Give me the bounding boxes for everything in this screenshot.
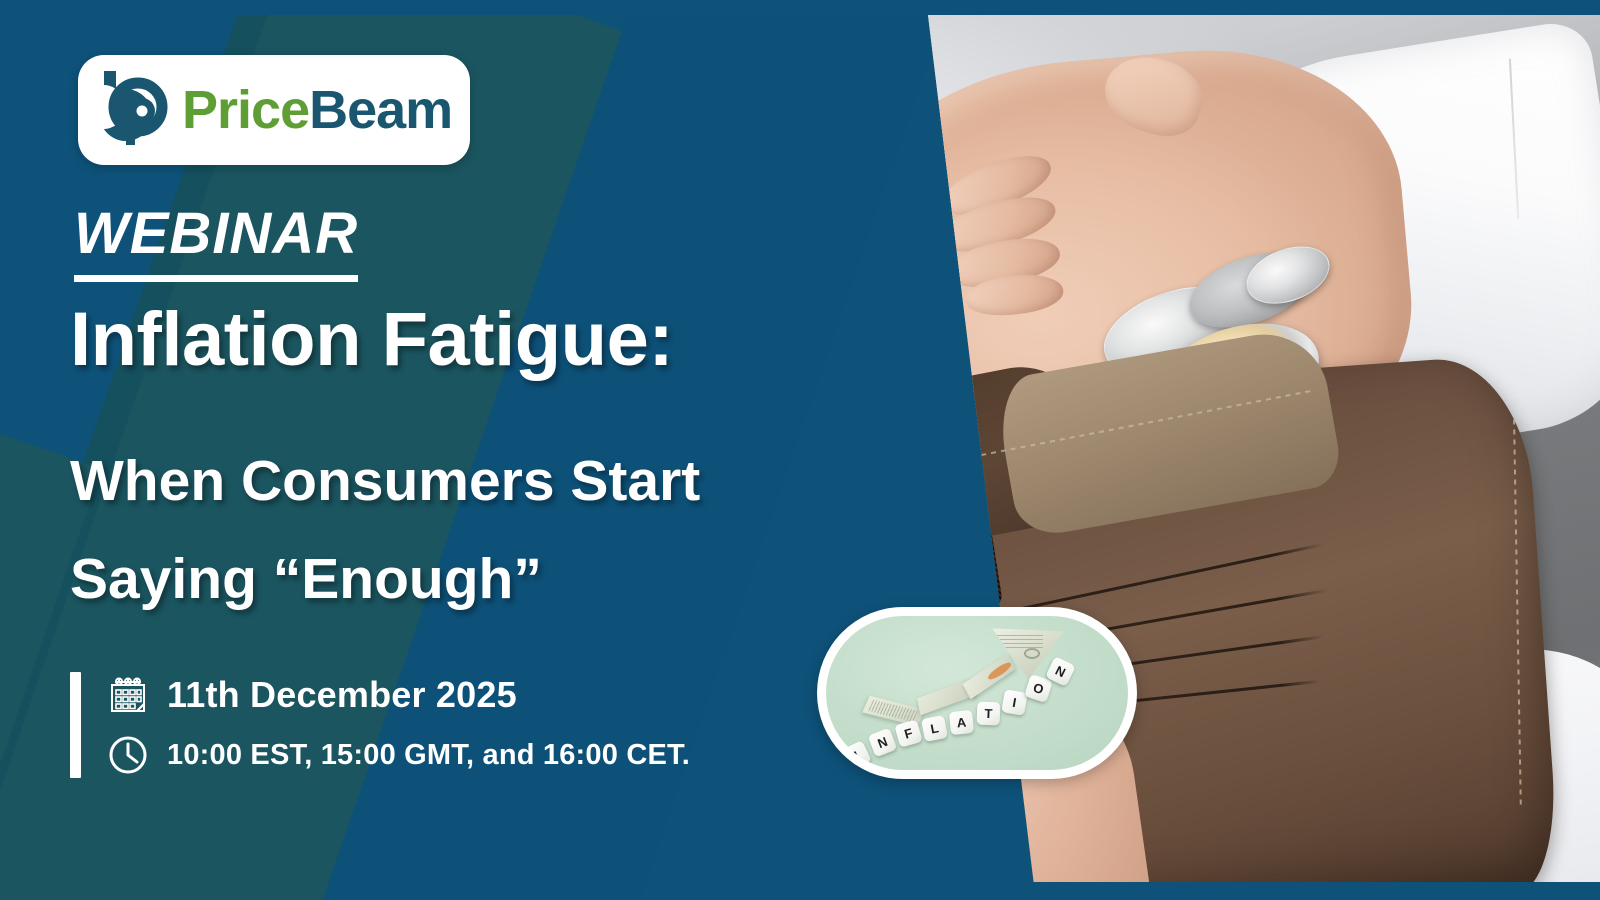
wallet-stitching [1513, 419, 1522, 806]
pricebeam-b-p-monogram-icon [98, 67, 174, 154]
bottom-blue-strip [700, 882, 1600, 900]
sleeve-seam [1509, 58, 1519, 217]
banknote-seal [1024, 648, 1041, 659]
event-details-rows: 11th December 2025 10:00 EST, 15:00 GMT,… [105, 672, 690, 778]
letter-tile: I [1001, 689, 1028, 716]
event-date-row: 11th December 2025 [105, 672, 690, 718]
inflation-inset-photo: I N F L A T I O N [817, 607, 1137, 779]
page-title: Inflation Fatigue: [70, 302, 673, 378]
page-subtitle-line-1: When Consumers Start [70, 432, 700, 530]
top-blue-strip [0, 0, 1600, 15]
event-time-row: 10:00 EST, 15:00 GMT, and 16:00 CET. [105, 732, 690, 778]
thumb [1096, 46, 1211, 145]
letter-tile: T [977, 702, 1001, 726]
event-details: 11th December 2025 10:00 EST, 15:00 GMT,… [70, 672, 690, 778]
event-date: 11th December 2025 [167, 674, 517, 716]
letter-tile: L [921, 715, 948, 742]
brand-logo[interactable]: PriceBeam [78, 55, 470, 165]
accent-bar [70, 672, 81, 778]
calendar-icon [105, 672, 151, 718]
clock-icon [105, 732, 151, 778]
banknote-detail [997, 635, 1044, 648]
inflation-inset-image: I N F L A T I O N [826, 616, 1128, 770]
page-subtitle: When Consumers Start Saying “Enough” [70, 432, 700, 628]
webinar-promo-banner: I N F L A T I O N [0, 0, 1600, 900]
letter-tile: A [949, 710, 974, 735]
brand-wordmark-price: Price [182, 80, 309, 140]
brand-wordmark: PriceBeam [182, 83, 452, 137]
letter-tile: N [868, 728, 898, 758]
eyebrow-label: WEBINAR [74, 200, 358, 282]
event-time: 10:00 EST, 15:00 GMT, and 16:00 CET. [167, 739, 690, 772]
brand-wordmark-beam: Beam [309, 80, 452, 140]
page-subtitle-line-2: Saying “Enough” [70, 530, 700, 628]
